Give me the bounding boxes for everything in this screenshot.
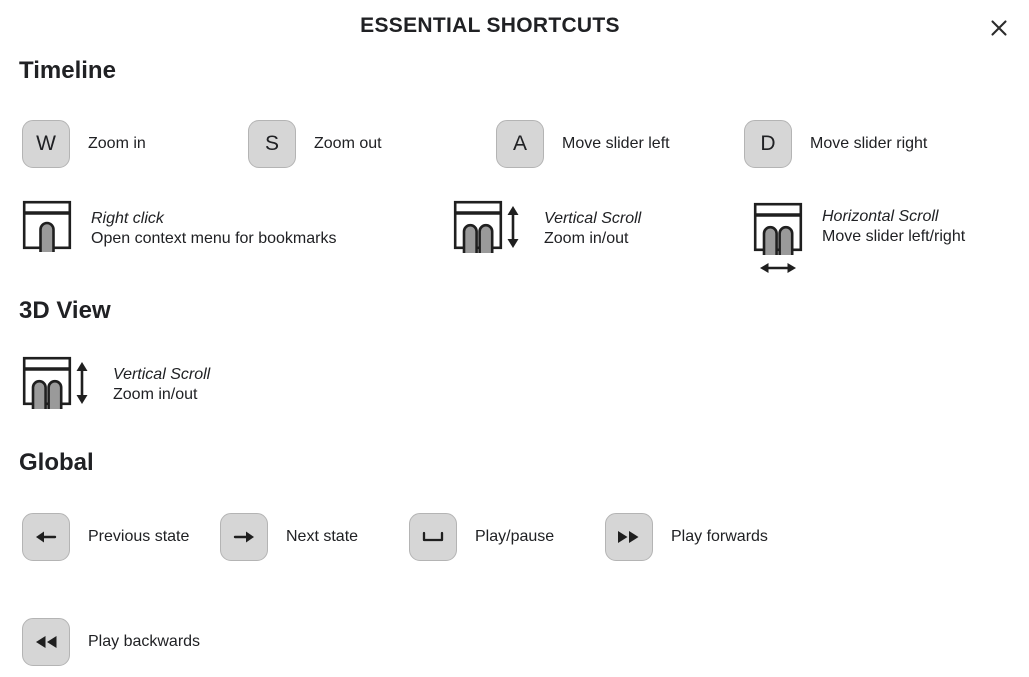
shortcut-label: Zoom in [88,134,146,154]
spacebar-icon [420,528,446,546]
page-title: ESSENTIAL SHORTCUTS [0,14,980,38]
gesture-item[interactable]: Vertical Scroll Zoom in/out [0,353,210,416]
shortcut-label: Play backwards [88,632,200,652]
shortcut-item[interactable]: A Move slider left [496,109,744,179]
gesture-label: Vertical Scroll Zoom in/out [544,209,641,249]
keycap-arrow-left[interactable] [22,513,70,561]
gesture-label-primary: Horizontal Scroll [822,207,965,227]
keycap-spacebar[interactable] [409,513,457,561]
shortcut-item[interactable]: Play/pause [409,502,605,572]
keycap-a[interactable]: A [496,120,544,168]
gesture-label-secondary: Open context menu for bookmarks [91,229,336,249]
shortcut-label: Move slider right [810,134,927,154]
rewind-icon [32,633,60,651]
gesture-item[interactable]: Vertical Scroll Zoom in/out [452,197,752,260]
shortcut-label: Next state [286,527,358,547]
gesture-label-secondary: Move slider left/right [822,227,965,247]
shortcut-label: Play/pause [475,527,554,547]
shortcut-label: Previous state [88,527,189,547]
section-timeline: Timeline W Zoom in S Zoom out A Move sli… [0,56,1029,282]
shortcut-label: Move slider left [562,134,670,154]
section-title-3d-view: 3D View [19,296,1029,326]
section-title-global: Global [19,448,1029,478]
shortcut-item[interactable]: W Zoom in [0,109,248,179]
horizontal-double-arrow [760,263,796,273]
gesture-label-primary: Vertical Scroll [544,209,641,229]
close-button[interactable] [982,11,1016,45]
trackpad-two-finger-vertical-scroll-icon [21,353,95,416]
section-title-timeline: Timeline [19,56,1029,86]
vertical-double-arrow [77,362,88,404]
trackpad-two-finger-vertical-scroll-icon [452,197,526,260]
section-3d-view: 3D View [0,296,1029,416]
shortcut-row: Previous state Next state [0,502,1029,572]
gesture-item[interactable]: Right click Open context menu for bookma… [0,197,452,260]
shortcut-item[interactable]: D Move slider right [744,109,992,179]
shortcut-item[interactable]: Play forwards [605,502,825,572]
arrow-right-icon [231,526,257,548]
shortcut-item[interactable]: Play backwards [0,607,200,677]
arrow-left-icon [33,526,59,548]
shortcut-label: Play forwards [671,527,768,547]
gesture-label-secondary: Zoom in/out [113,385,210,405]
shortcut-row: W Zoom in S Zoom out A Move slider left … [0,109,1029,179]
keycap-d[interactable]: D [744,120,792,168]
shortcut-item[interactable]: Next state [220,502,409,572]
gesture-label: Horizontal Scroll Move slider left/right [822,207,965,247]
gesture-label: Vertical Scroll Zoom in/out [113,365,210,405]
close-icon [989,18,1009,38]
keycap-rewind[interactable] [22,618,70,666]
gesture-label-primary: Vertical Scroll [113,365,210,385]
keycap-fast-forward[interactable] [605,513,653,561]
keycap-w[interactable]: W [22,120,70,168]
shortcut-item[interactable]: S Zoom out [248,109,496,179]
vertical-double-arrow [508,206,519,248]
keycap-arrow-right[interactable] [220,513,268,561]
gesture-item[interactable]: Horizontal Scroll Move slider left/right [752,197,1029,282]
shortcut-row: Play backwards [0,607,1029,677]
trackpad-one-finger-icon [21,197,73,260]
trackpad-two-finger-horizontal-scroll-icon [752,201,804,282]
section-global: Global Previous state [0,448,1029,677]
dialog-header: ESSENTIAL SHORTCUTS [0,0,1029,56]
gesture-label: Right click Open context menu for bookma… [91,209,336,249]
gesture-row: Vertical Scroll Zoom in/out [0,353,1029,416]
gesture-label-secondary: Zoom in/out [544,229,641,249]
keycap-s[interactable]: S [248,120,296,168]
gesture-label-primary: Right click [91,209,336,229]
gesture-row: Right click Open context menu for bookma… [0,197,1029,282]
fast-forward-icon [615,528,643,546]
shortcut-label: Zoom out [314,134,382,154]
shortcut-item[interactable]: Previous state [0,502,220,572]
